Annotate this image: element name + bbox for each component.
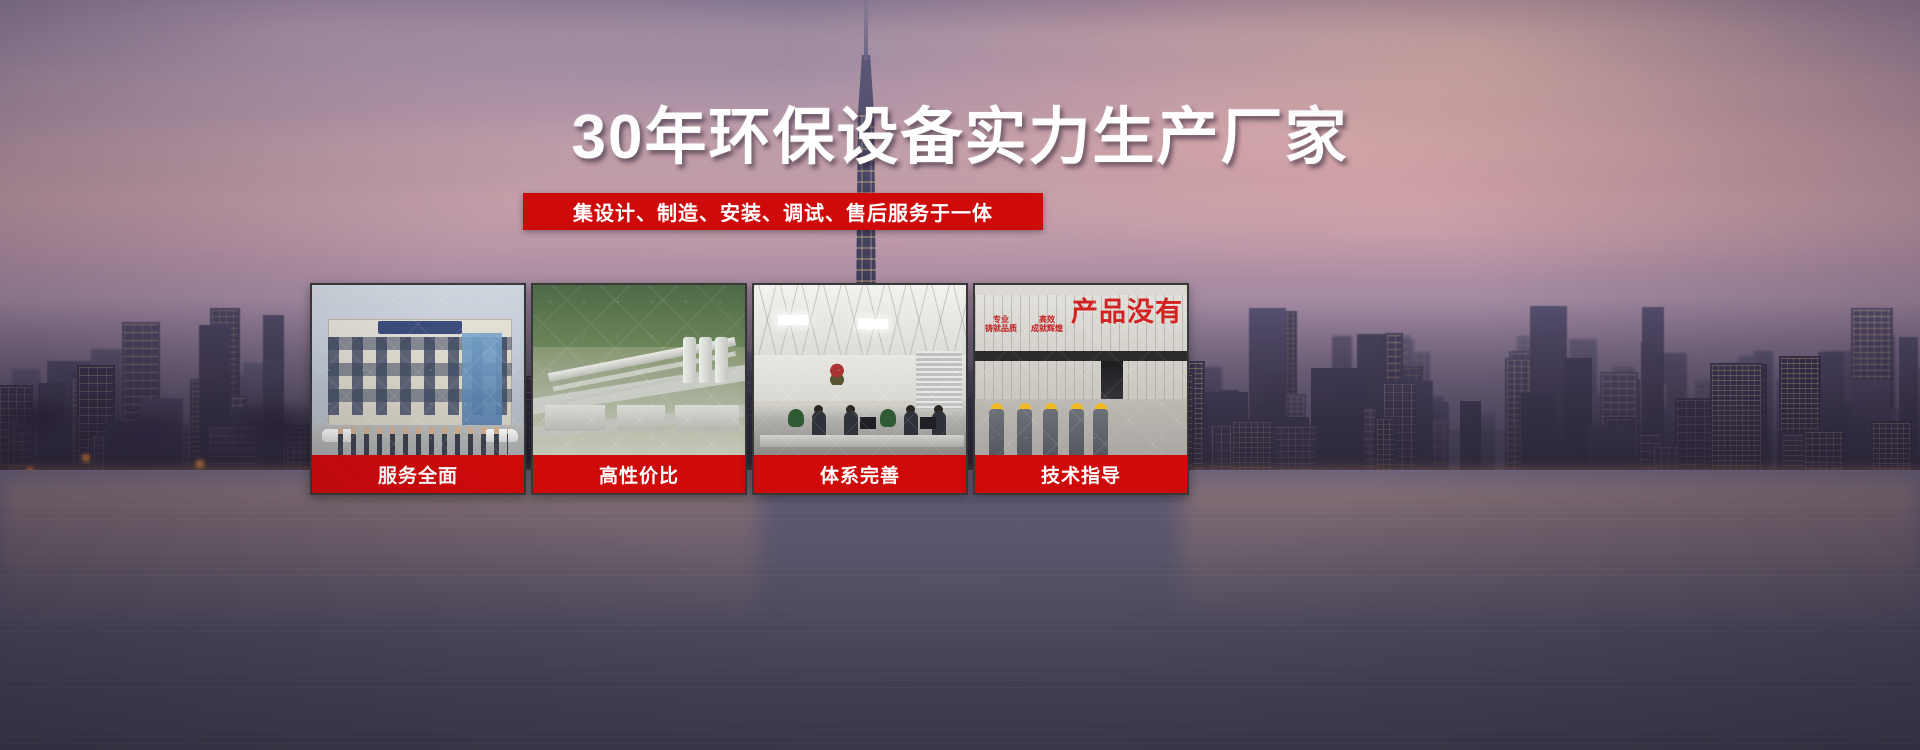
feature-card[interactable]: 体系完善 (752, 283, 968, 495)
page-title: 30年环保设备实力生产厂家 (0, 105, 1920, 170)
card-photo (312, 285, 524, 459)
feature-card[interactable]: 高性价比 (531, 283, 747, 495)
wall-slogan-line: 成就辉煌 (1031, 324, 1063, 333)
wall-slogan: 专业 铸就品质 (985, 315, 1017, 333)
wall-emblem (824, 361, 850, 385)
wall-slogan-line: 专业 (993, 315, 1009, 324)
card-caption: 服务全面 (312, 455, 524, 493)
wall-slogan-line: 高效 (1039, 315, 1055, 324)
card-photo (754, 285, 966, 459)
card-caption: 高性价比 (533, 455, 745, 493)
feature-card[interactable]: 产品没有 专业 铸就品质 高效 成就辉煌 (973, 283, 1189, 495)
wall-slogan: 高效 成就辉煌 (1031, 315, 1063, 333)
subtitle-bar: 集设计、制造、安装、调试、售后服务于一体 (523, 193, 1043, 230)
feature-card[interactable]: 服务全面 (310, 283, 526, 495)
feature-card-list: 服务全面 高性价比 (310, 283, 1520, 495)
card-caption: 技术指导 (975, 455, 1187, 493)
card-photo (533, 285, 745, 459)
hero-banner: 30年环保设备实力生产厂家 集设计、制造、安装、调试、售后服务于一体 (0, 0, 1920, 750)
wall-slogan-line: 铸就品质 (985, 324, 1017, 333)
factory-wall-text: 产品没有 (1071, 299, 1183, 326)
subtitle-text: 集设计、制造、安装、调试、售后服务于一体 (573, 197, 993, 226)
card-caption: 体系完善 (754, 455, 966, 493)
company-sign (378, 321, 462, 334)
card-photo: 产品没有 专业 铸就品质 高效 成就辉煌 (975, 285, 1187, 459)
banner-content: 30年环保设备实力生产厂家 集设计、制造、安装、调试、售后服务于一体 (0, 0, 1920, 750)
